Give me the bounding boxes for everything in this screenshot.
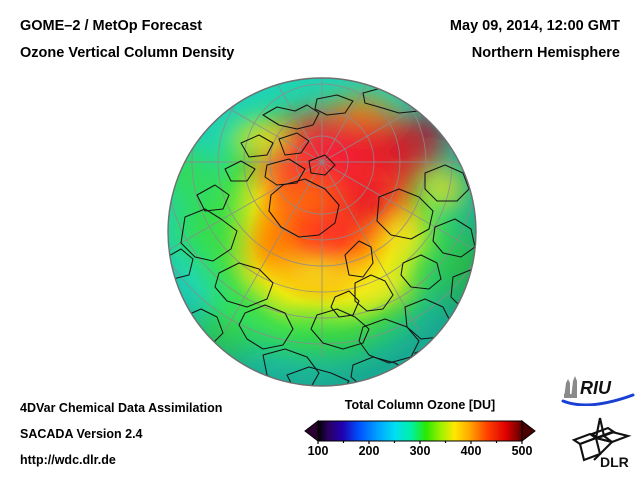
- colorbar-extend-high: [522, 421, 535, 441]
- footer-url[interactable]: http://wdc.dlr.de: [20, 453, 116, 467]
- polar-globe-map: [167, 77, 477, 387]
- colorbar-tick-300: 300: [410, 444, 431, 458]
- colorbar-tick-200: 200: [359, 444, 380, 458]
- riu-towers-icon: [564, 376, 577, 398]
- colorbar-extend-low: [305, 421, 318, 441]
- colorbar-title: Total Column Ozone [DU]: [300, 398, 540, 412]
- colorbar-gradient: [300, 418, 540, 444]
- forecast-datetime: May 09, 2014, 12:00 GMT: [450, 18, 620, 34]
- colorbar-tick-400: 400: [461, 444, 482, 458]
- riu-wordmark: RIU: [580, 378, 612, 398]
- footer-version: SACADA Version 2.4: [20, 427, 143, 441]
- visualization-canvas: GOME–2 / MetOp Forecast Ozone Vertical C…: [0, 0, 640, 480]
- page-subtitle: Ozone Vertical Column Density: [20, 45, 234, 61]
- dlr-logo: DLR: [566, 414, 636, 470]
- riu-logo: RIU: [560, 374, 636, 406]
- colorbar: Total Column Ozone [DU]: [300, 398, 540, 470]
- dlr-wordmark: DLR: [600, 454, 629, 470]
- colorbar-tick-labels: 100200300400500: [300, 444, 540, 468]
- page-title: GOME–2 / MetOp Forecast: [20, 18, 202, 34]
- colorbar-tick-100: 100: [308, 444, 329, 458]
- hemisphere-label: Northern Hemisphere: [472, 45, 620, 61]
- colorbar-tick-500: 500: [512, 444, 533, 458]
- footer-method: 4DVar Chemical Data Assimilation: [20, 401, 222, 415]
